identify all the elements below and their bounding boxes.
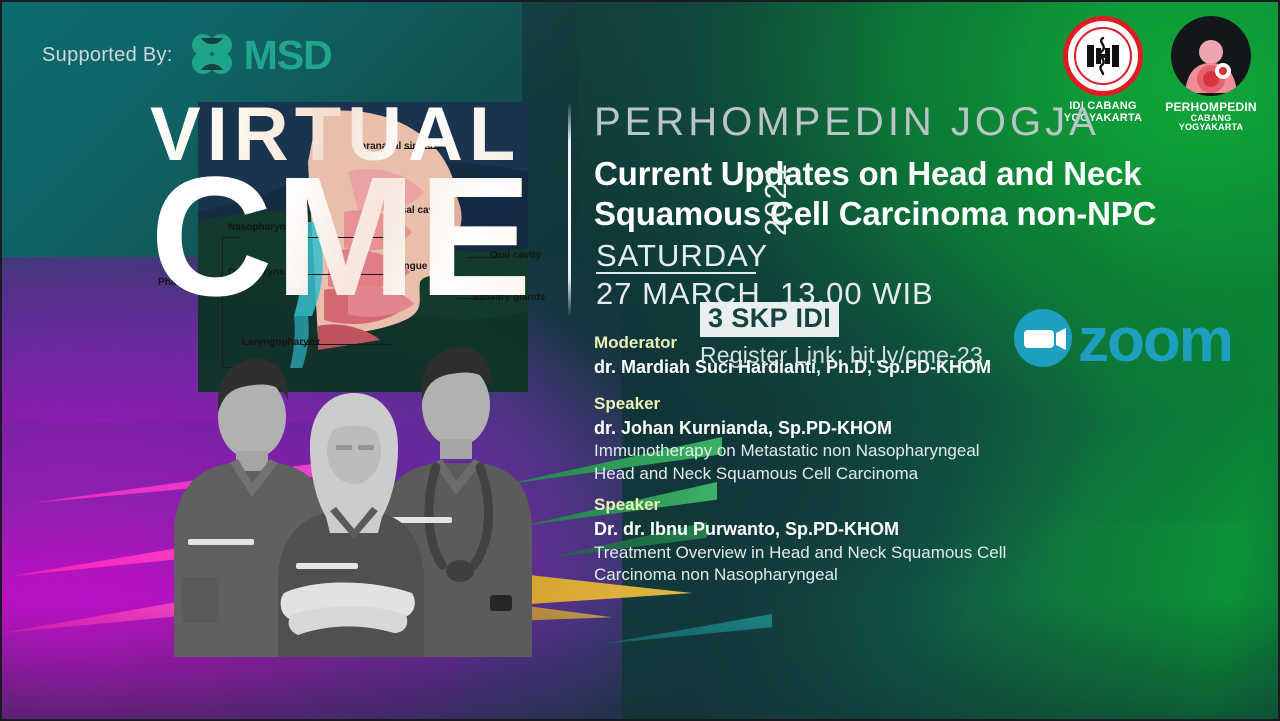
participant-topic-line2: Head and Neck Squamous Cell Carcinoma bbox=[594, 463, 1154, 485]
registration-block: 3 SKP IDI Register Link: bit.ly/cme-23 bbox=[700, 302, 983, 369]
event-day-underline bbox=[596, 272, 756, 274]
participant-topic-line1: Immunotherapy on Metastatic non Nasophar… bbox=[594, 440, 1154, 462]
event-title: Current Updates on Head and Neck Squamou… bbox=[594, 154, 1156, 233]
participant-name: dr. Johan Kurnianda, Sp.PD-KHOM bbox=[594, 416, 1154, 440]
participant-role: Speaker bbox=[594, 393, 1154, 416]
event-details-panel: PERHOMPEDIN JOGJA Current Updates on Hea… bbox=[594, 2, 1280, 721]
participant-speaker-2: Speaker Dr. dr. Ibnu Purwanto, Sp.PD-KHO… bbox=[594, 494, 1154, 586]
zoom-wordmark: zoom bbox=[1078, 310, 1232, 372]
event-day: SATURDAY bbox=[596, 238, 768, 274]
participant-topic-line1: Treatment Overview in Head and Neck Squa… bbox=[594, 542, 1154, 564]
event-poster: Supported By: MSD bbox=[0, 0, 1280, 721]
hero-cme-text: CME bbox=[150, 152, 534, 322]
event-title-line2: Squamous Cell Carcinoma non-NPC bbox=[594, 194, 1156, 234]
register-link[interactable]: Register Link: bit.ly/cme-23 bbox=[700, 342, 983, 369]
organizer-title: PERHOMPEDIN JOGJA bbox=[594, 100, 1100, 145]
zoom-camera-icon bbox=[1012, 307, 1074, 374]
left-visual-panel: Paranasal sinuses Nasal cavity Nasophary… bbox=[2, 2, 572, 721]
participant-role: Speaker bbox=[594, 494, 1154, 517]
speakers-photo-group bbox=[174, 327, 534, 657]
event-year: 2021 bbox=[758, 163, 794, 236]
skp-credits-badge: 3 SKP IDI bbox=[700, 302, 839, 337]
participant-name: Dr. dr. Ibnu Purwanto, Sp.PD-KHOM bbox=[594, 517, 1154, 541]
event-datetime: SATURDAY 27 MARCH 2021 13.00 WIB bbox=[594, 238, 994, 310]
spacer bbox=[594, 379, 1154, 393]
participant-speaker-1: Speaker dr. Johan Kurnianda, Sp.PD-KHOM … bbox=[594, 393, 1154, 485]
vertical-divider bbox=[568, 102, 571, 317]
zoom-logo: zoom bbox=[1012, 307, 1232, 374]
participant-topic-line2: Carcinoma non Nasopharyngeal bbox=[594, 564, 1154, 586]
spacer bbox=[594, 485, 1154, 494]
event-title-line1: Current Updates on Head and Neck bbox=[594, 154, 1156, 194]
